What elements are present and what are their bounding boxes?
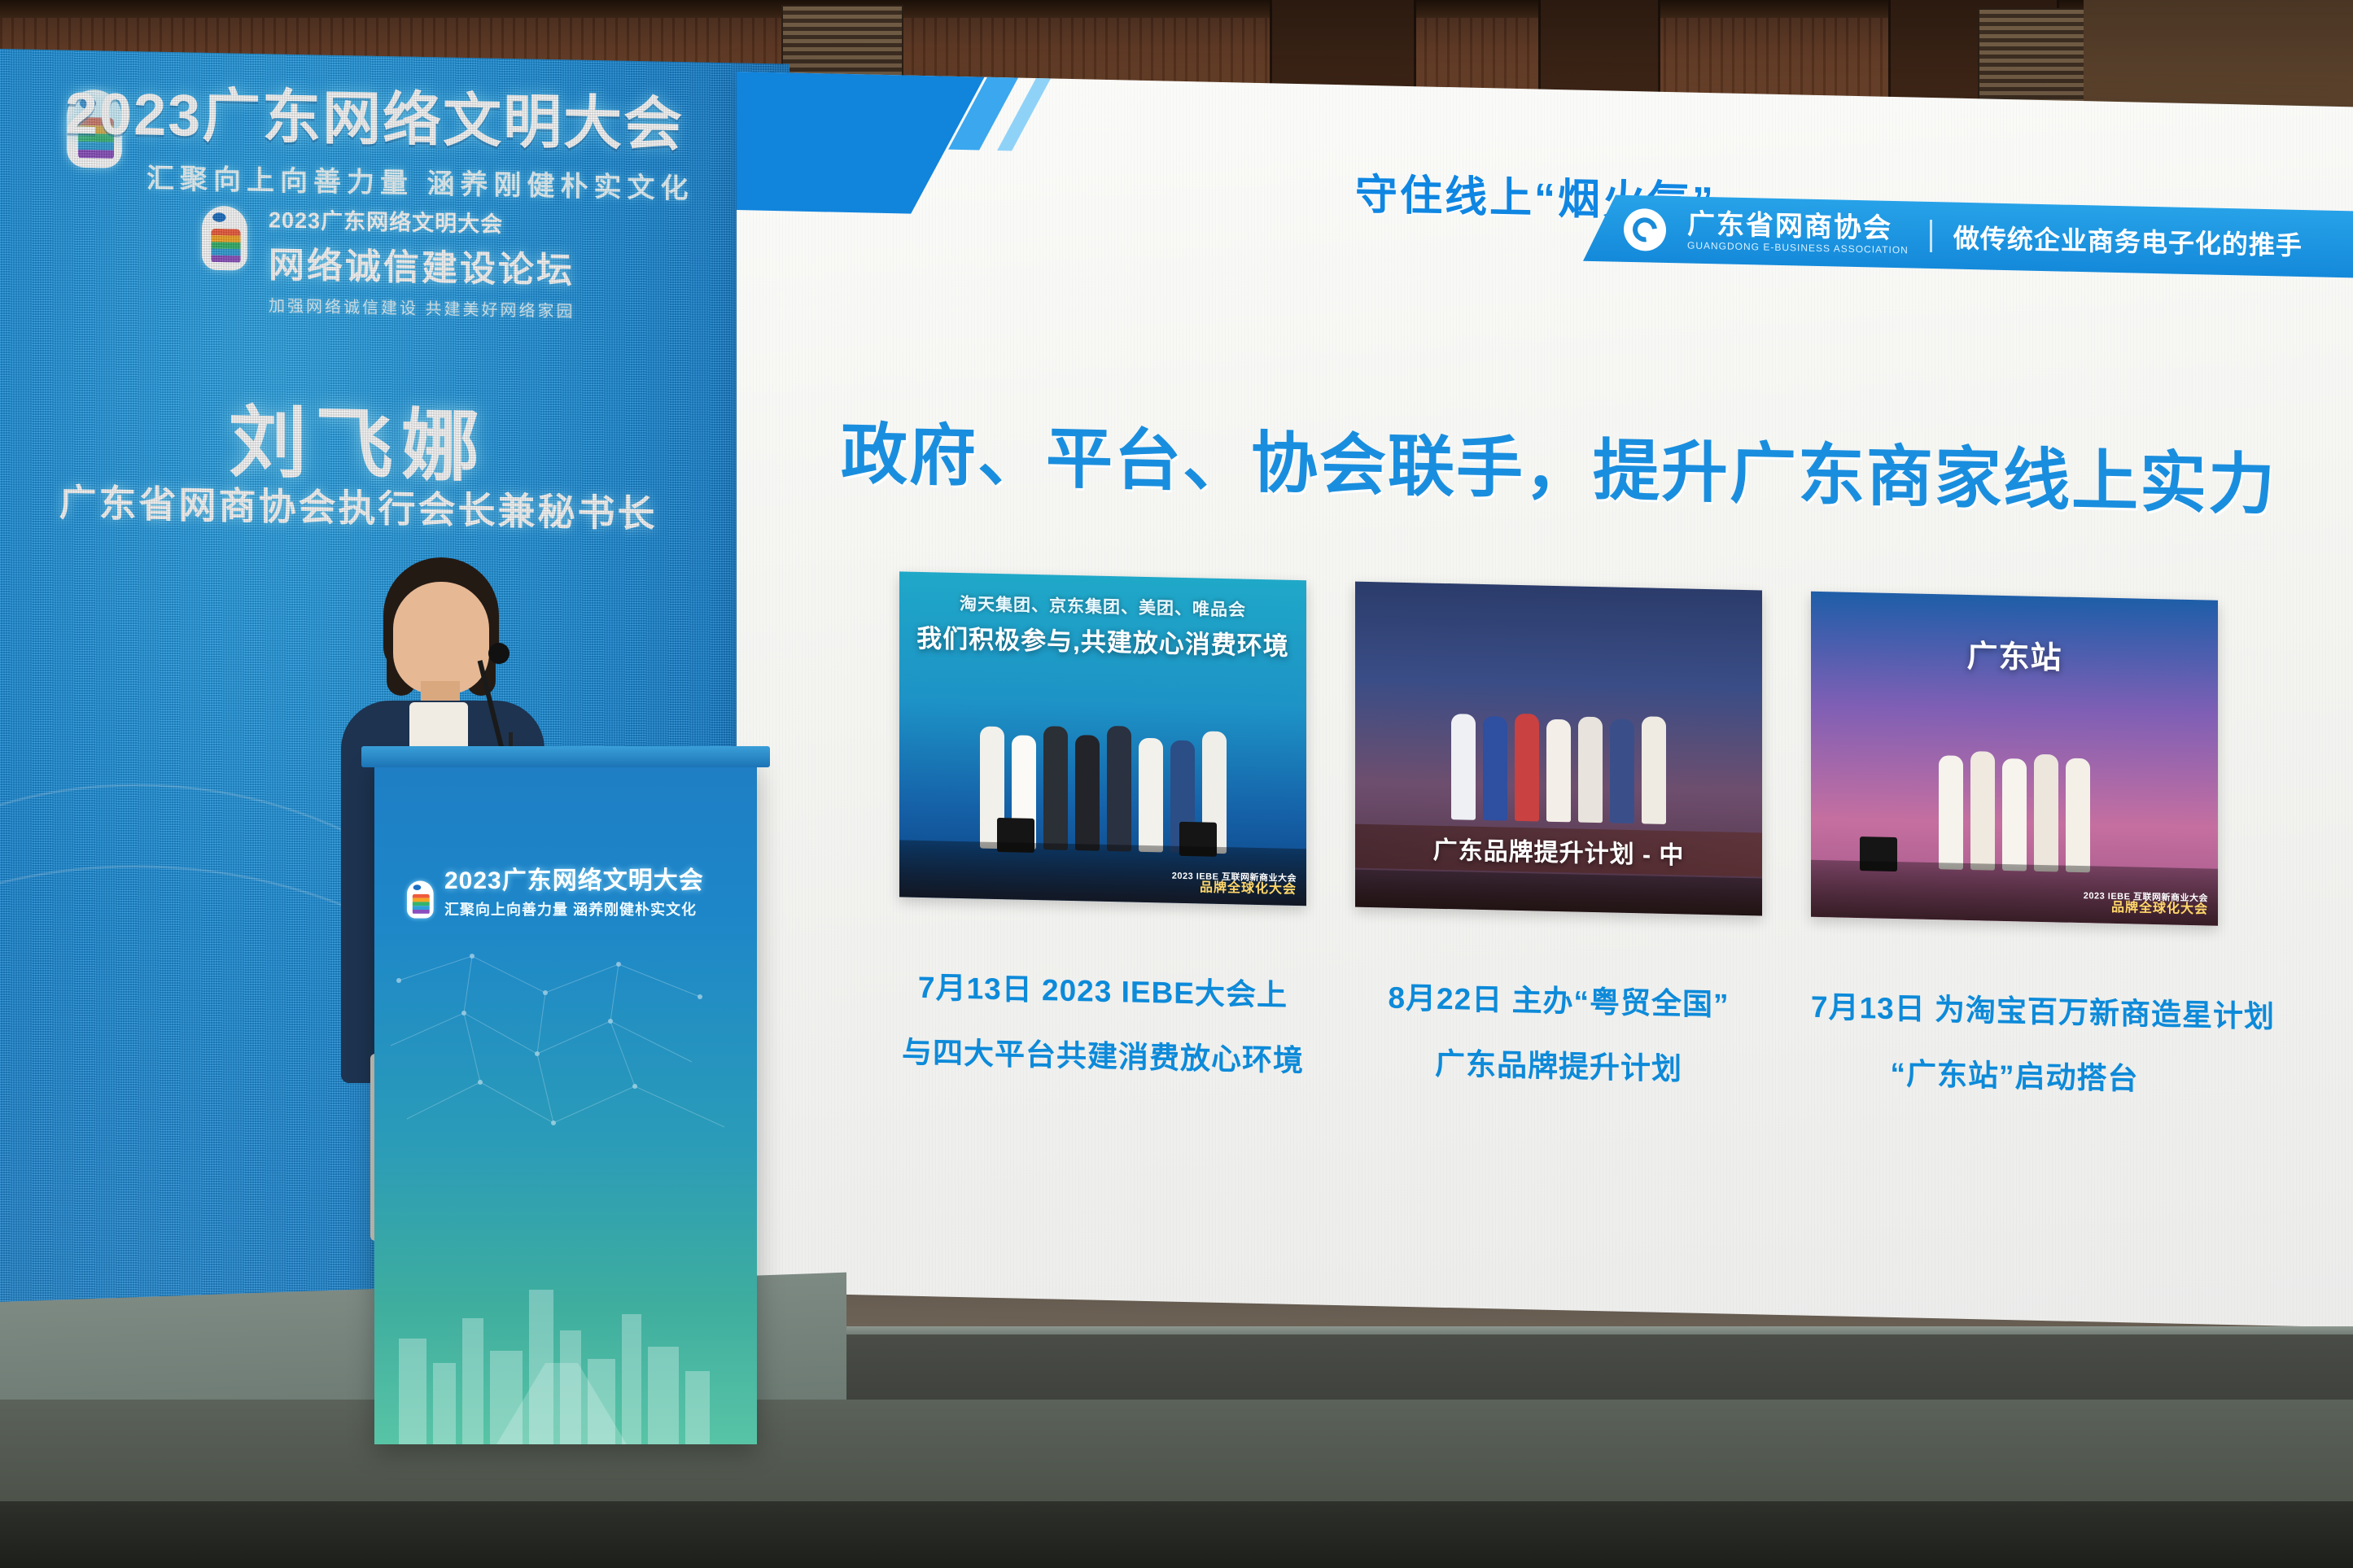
slide-photo-row: 淘天集团、京东集团、美团、唯品会 我们积极参与,共建放心消费环境 2023 IE (794, 570, 2324, 977)
podium-brand-line-1: 2023广东网络文明大会 (444, 860, 704, 896)
caption-2-line-2: 广东品牌提升计划 (1355, 1037, 1762, 1090)
photo-taobao-guangdong: 广东站 2023 IEBE 互联网新商业大会 品牌全球化大会 (1811, 592, 2218, 926)
association-divider (1930, 220, 1932, 252)
caption-3: 7月13日 为淘宝百万新商造星计划 “广东站”启动搭台 (1811, 982, 2218, 1170)
speaker-head (393, 582, 489, 694)
microphone-head-icon (488, 643, 510, 664)
backdrop-main-title: 2023广东网络文明大会 (65, 85, 765, 157)
podium: 2023广东网络文明大会 汇聚向上向善力量 涵养刚健朴实文化 (374, 761, 757, 1444)
forum-line-3: 加强网络诚信建设 共建美好网络家园 (269, 292, 773, 325)
photo-iebe: 淘天集团、京东集团、美团、唯品会 我们积极参与,共建放心消费环境 2023 IE (899, 571, 1306, 906)
podium-thumbs-up-icon (407, 880, 420, 899)
photo-brand-upgrade: 广东品牌提升计划 - 中 (1355, 582, 1762, 916)
podium-brand-line-2: 汇聚向上向善力量 涵养刚健朴实文化 (444, 898, 704, 919)
photo1-crowd (899, 700, 1306, 855)
caption-2-line-1: 8月22日 主办“粤贸全国” (1355, 972, 1762, 1025)
podium-skyline-graphic (374, 1241, 757, 1444)
photo2-crowd (1355, 671, 1762, 827)
caption-3-line-1: 7月13日 为淘宝百万新商造星计划 (1811, 982, 2218, 1035)
association-name: 广东省网商协会 (1687, 211, 1909, 245)
photo1-corner-line2: 品牌全球化大会 (1172, 881, 1297, 898)
podium-brand-lockup: 2023广东网络文明大会 汇聚向上向善力量 涵养刚健朴实文化 (407, 860, 733, 919)
forum-line-2: 网络诚信建设论坛 (269, 235, 773, 297)
forum-thumbs-up-icon (202, 206, 247, 271)
podium-top-surface (361, 746, 770, 767)
photo1-overlay-main: 我们积极参与,共建放心消费环境 (899, 617, 1306, 662)
photo2-floor (1355, 870, 1762, 916)
stage-front-edge (0, 1501, 2353, 1568)
backdrop-forum-lockup: 2023广东网络文明大会 网络诚信建设论坛 加强网络诚信建设 共建美好网络家园 (269, 202, 773, 325)
conference-photo-scene: 2023广东网络文明大会 汇聚向上向善力量 涵养刚健朴实文化 2023广东网络文… (0, 0, 2353, 1568)
slide-caption-row: 7月13日 2023 IEBE大会上 与四大平台共建消费放心环境 8月22日 主… (794, 960, 2324, 1173)
caption-1-line-1: 7月13日 2023 IEBE大会上 (899, 962, 1306, 1015)
backdrop-sub-title: 汇聚向上向善力量 涵养刚健朴实文化 (147, 155, 781, 207)
caption-2: 8月22日 主办“粤贸全国” 广东品牌提升计划 (1355, 972, 1762, 1160)
caption-3-line-2: “广东站”启动搭台 (1811, 1047, 2218, 1100)
e-circle-icon (1624, 208, 1666, 251)
podium-network-graphic (374, 948, 757, 1176)
projection-screen: 守住线上“烟火气” 广东省网商协会 GUANGDONG E-BUSINESS A… (737, 72, 2353, 1327)
association-tagline: 做传统企业商务电子化的推手 (1953, 218, 2303, 263)
photo2-overlay-band: 广东品牌提升计划 - 中 (1355, 824, 1762, 877)
photo3-corner-logo: 2023 IEBE 互联网新商业大会 品牌全球化大会 (2084, 892, 2208, 918)
caption-1: 7月13日 2023 IEBE大会上 与四大平台共建消费放心环境 (899, 962, 1306, 1150)
caption-1-line-2: 与四大平台共建消费放心环境 (899, 1027, 1306, 1080)
photo3-overlay-main: 广东站 (1811, 627, 2218, 681)
photo3-corner-line2: 品牌全球化大会 (2084, 901, 2208, 917)
photo1-corner-logo: 2023 IEBE 互联网新商业大会 品牌全球化大会 (1172, 871, 1297, 898)
